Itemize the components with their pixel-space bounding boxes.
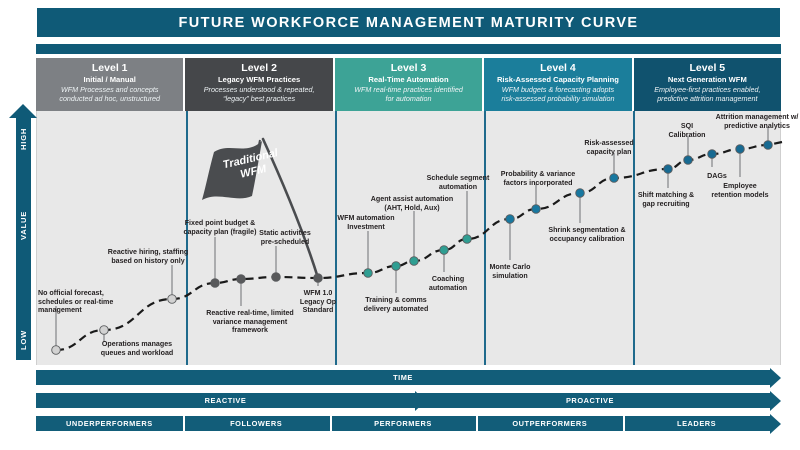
maturity-curve-diagram: FUTURE WORKFORCE MANAGEMENT MATURITY CUR… <box>0 0 800 450</box>
level-name: Level 5 <box>637 62 778 74</box>
performers-band-arrowhead <box>770 414 781 434</box>
level-header-4[interactable]: Level 4Risk-Assessed Capacity PlanningWF… <box>484 58 633 111</box>
level-description: Processes understood & repeated,“legacy”… <box>188 85 329 103</box>
milestone-label: Shift matching &gap recruiting <box>638 191 694 208</box>
proactive-band: PROACTIVE <box>410 393 781 408</box>
milestone-label: Operations managesqueues and workload <box>101 340 174 357</box>
reactive-band: REACTIVE <box>36 393 426 408</box>
performers-segment-label: PERFORMERS <box>330 416 477 431</box>
diagram-title-bar: FUTURE WORKFORCE MANAGEMENT MATURITY CUR… <box>36 7 781 38</box>
milestone-label: Employeeretention models <box>711 182 768 199</box>
level-header-strip: Level 1Initial / ManualWFM Processes and… <box>36 58 781 111</box>
performers-segment-label: FOLLOWERS <box>183 416 330 431</box>
performers-segment-divider <box>623 416 625 431</box>
title-accent-band <box>36 44 781 54</box>
level-header-1[interactable]: Level 1Initial / ManualWFM Processes and… <box>36 58 185 111</box>
milestone-label: Fixed point budget &capacity plan (fragi… <box>184 219 257 236</box>
level-header-2[interactable]: Level 2Legacy WFM PracticesProcesses und… <box>185 58 334 111</box>
milestone-label: DAGs <box>707 172 727 181</box>
milestone-label: Agent assist automation(AHT, Hold, Aux) <box>371 195 453 212</box>
performers-segment-divider <box>476 416 478 431</box>
level-name: Level 2 <box>188 62 329 74</box>
milestone-label: SQICalibration <box>668 122 705 139</box>
level-subtitle: Legacy WFM Practices <box>188 75 329 85</box>
level-divider <box>335 111 337 365</box>
milestone-label: Reactive real-time, limitedvariance mana… <box>206 309 294 335</box>
value-axis-label: VALUE <box>19 225 28 240</box>
milestone-label: No official forecast,schedules or real-t… <box>38 289 113 315</box>
reactive-band-label: REACTIVE <box>205 396 247 405</box>
level-name: Level 1 <box>39 62 180 74</box>
milestone-label: Training & commsdelivery automated <box>364 296 429 313</box>
level-subtitle: Next Generation WFM <box>637 75 778 85</box>
value-axis-low-label: LOW <box>19 335 28 350</box>
milestone-label: WFM automationInvestment <box>337 214 394 231</box>
time-band-arrowhead <box>770 368 781 388</box>
value-axis-high-label: HIGH <box>19 135 28 150</box>
time-band-label: TIME <box>393 373 413 382</box>
milestone-label: Risk-assessedcapacity plan <box>584 139 633 156</box>
level-description: WFM Processes and conceptsconducted ad h… <box>39 85 180 103</box>
level-subtitle: Real-Time Automation <box>338 75 479 85</box>
performers-segment-divider <box>183 416 185 431</box>
level-description: WFM budgets & forecasting adoptsrisk-ass… <box>487 85 628 103</box>
milestone-label: Attrition management w/predictive analyt… <box>716 113 799 130</box>
performers-segment-label: LEADERS <box>623 416 770 431</box>
level-description: Employee-first practices enabled,predict… <box>637 85 778 103</box>
level-header-5[interactable]: Level 5Next Generation WFMEmployee-first… <box>634 58 781 111</box>
milestone-label: Reactive hiring, staffingbased on histor… <box>108 248 188 265</box>
page-title: FUTURE WORKFORCE MANAGEMENT MATURITY CUR… <box>179 15 639 31</box>
level-subtitle: Risk-Assessed Capacity Planning <box>487 75 628 85</box>
level-header-3[interactable]: Level 3Real-Time AutomationWFM real-time… <box>335 58 484 111</box>
performers-band: UNDERPERFORMERSFOLLOWERSPERFORMERSOUTPER… <box>36 416 781 431</box>
milestone-label: Schedule segmentautomation <box>427 174 490 191</box>
performers-segment-divider <box>330 416 332 431</box>
milestone-label: Probability & variancefactors incorporat… <box>501 170 576 187</box>
proactive-band-label: PROACTIVE <box>566 396 614 405</box>
performers-segment-label: UNDERPERFORMERS <box>36 416 183 431</box>
level-divider <box>186 111 188 365</box>
milestone-label: WFM 1.0Legacy OpStandard <box>300 289 336 315</box>
level-divider <box>484 111 486 365</box>
milestone-label: Static activitiespre-scheduled <box>259 229 311 246</box>
performers-segment-label: OUTPERFORMERS <box>476 416 623 431</box>
level-name: Level 3 <box>338 62 479 74</box>
proactive-band-arrowhead <box>770 391 781 411</box>
level-name: Level 4 <box>487 62 628 74</box>
milestone-label: Coachingautomation <box>429 275 467 292</box>
milestone-label: Monte Carlosimulation <box>490 263 531 280</box>
time-band: TIME <box>36 370 781 385</box>
level-description: WFM real-time practices identifiedfor au… <box>338 85 479 103</box>
plot-area <box>36 111 781 365</box>
level-subtitle: Initial / Manual <box>39 75 180 85</box>
milestone-label: Shrink segmentation &occupancy calibrati… <box>548 226 625 243</box>
